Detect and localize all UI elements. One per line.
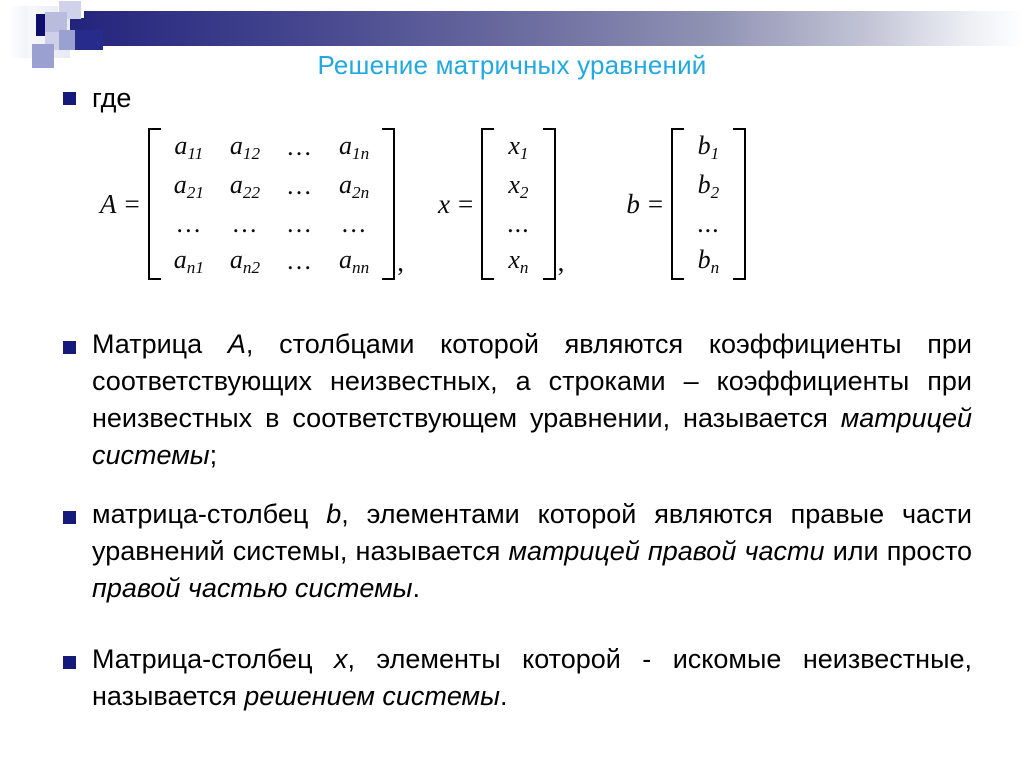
text-run: или просто: [825, 536, 973, 566]
bracket-right-a: [382, 128, 395, 280]
table-row: … … … …: [161, 206, 382, 242]
cell-b2: b2: [684, 167, 733, 206]
vector-x-comma: ,: [556, 247, 565, 280]
matrix-a-comma: ,: [395, 247, 404, 280]
cell-b1: b1: [684, 128, 733, 167]
body-paragraph-vector-b: матрица-столбец b, элементами которой яв…: [92, 496, 972, 607]
cell-a21: a21: [161, 167, 217, 206]
vector-b-body: b1 b2 ... bn: [671, 128, 746, 280]
cell-a2n: a2n: [326, 167, 382, 206]
paragraph-text: Матрица A, столбцами которой являются ко…: [92, 329, 972, 470]
decor-square-blue-right: [75, 30, 103, 50]
cell-a1n: a1n: [326, 128, 382, 167]
bullet-marker-2: [63, 511, 76, 524]
table-row: x2: [494, 167, 543, 206]
emphasis-term: матрицей правой части: [509, 536, 825, 566]
text-run: Матрица-столбец: [92, 644, 334, 674]
bullet-marker-gde: [63, 92, 76, 105]
cell-bn: bn: [684, 242, 733, 281]
table-row: a21 a22 … a2n: [161, 167, 382, 206]
cell-ellipsis: …: [273, 167, 326, 206]
cell-an1: an1: [161, 242, 217, 281]
body-paragraph-vector-x: Матрица-столбец x, элементы которой - ис…: [92, 641, 972, 715]
vector-b-table: b1 b2 ... bn: [684, 128, 733, 280]
paragraph-text: Матрица-столбец x, элементы которой - ис…: [92, 644, 972, 711]
emphasis-term: правой частью системы: [92, 573, 413, 603]
cell-ellipsis: ...: [684, 206, 733, 242]
text-run: .: [413, 573, 421, 603]
table-row: an1 an2 … ann: [161, 242, 382, 281]
bullet-marker-1: [63, 341, 76, 354]
vector-x-table: x1 x2 ... xn: [494, 128, 543, 280]
cell-ellipsis: ...: [494, 206, 543, 242]
body-paragraph-matrix-a: Матрица A, столбцами которой являются ко…: [92, 326, 972, 474]
vector-x-label: x: [404, 189, 450, 220]
paragraph-text: матрица-столбец b, элементами которой яв…: [92, 499, 972, 603]
cell-a12: a12: [217, 128, 273, 167]
cell-ellipsis: …: [273, 242, 326, 281]
table-row: ...: [494, 206, 543, 242]
matrix-a-equals: =: [117, 189, 148, 220]
text-run: матрица-столбец: [92, 499, 326, 529]
vector-b-equals: =: [640, 189, 671, 220]
cell-ellipsis: …: [273, 206, 326, 242]
vector-x-equals: =: [450, 189, 481, 220]
cell-ellipsis: …: [273, 128, 326, 167]
cell-a22: a22: [217, 167, 273, 206]
table-row: b1: [684, 128, 733, 167]
table-row: xn: [494, 242, 543, 281]
cell-a11: a11: [161, 128, 217, 167]
text-run: Матрица: [92, 329, 228, 359]
cell-x1: x1: [494, 128, 543, 167]
bracket-left-x: [481, 128, 494, 280]
vector-b-label: b: [564, 189, 640, 220]
cell-xn: xn: [494, 242, 543, 281]
bracket-left-a: [148, 128, 161, 280]
intro-label: где: [92, 83, 131, 114]
matrix-a-label: A: [100, 189, 117, 220]
matrix-equations-row: A = a11 a12 … a1n a21 a22 … a2n …: [100, 128, 746, 280]
decor-square-lavender-3: [45, 12, 67, 32]
cell-an2: an2: [217, 242, 273, 281]
table-row: x1: [494, 128, 543, 167]
table-row: b2: [684, 167, 733, 206]
table-row: a11 a12 … a1n: [161, 128, 382, 167]
bracket-right-b: [733, 128, 746, 280]
emphasis-term: x: [334, 644, 348, 674]
matrix-a-body: a11 a12 … a1n a21 a22 … a2n … … … …: [148, 128, 395, 280]
table-row: ...: [684, 206, 733, 242]
cell-ellipsis: …: [161, 206, 217, 242]
header-gradient-bar: [60, 11, 1024, 46]
text-run: ;: [210, 440, 218, 470]
vector-x-body: x1 x2 ... xn: [481, 128, 556, 280]
matrix-a-table: a11 a12 … a1n a21 a22 … a2n … … … …: [161, 128, 382, 280]
cell-ellipsis: …: [326, 206, 382, 242]
emphasis-term: A: [228, 329, 246, 359]
emphasis-term: решением системы: [244, 681, 500, 711]
cell-ann: ann: [326, 242, 382, 281]
bullet-marker-3: [63, 656, 76, 669]
cell-x2: x2: [494, 167, 543, 206]
bracket-right-x: [543, 128, 556, 280]
table-row: bn: [684, 242, 733, 281]
text-run: .: [500, 681, 508, 711]
bracket-left-b: [671, 128, 684, 280]
cell-ellipsis: …: [217, 206, 273, 242]
emphasis-term: b: [326, 499, 341, 529]
page-title: Решение матричных уравнений: [0, 50, 1024, 81]
